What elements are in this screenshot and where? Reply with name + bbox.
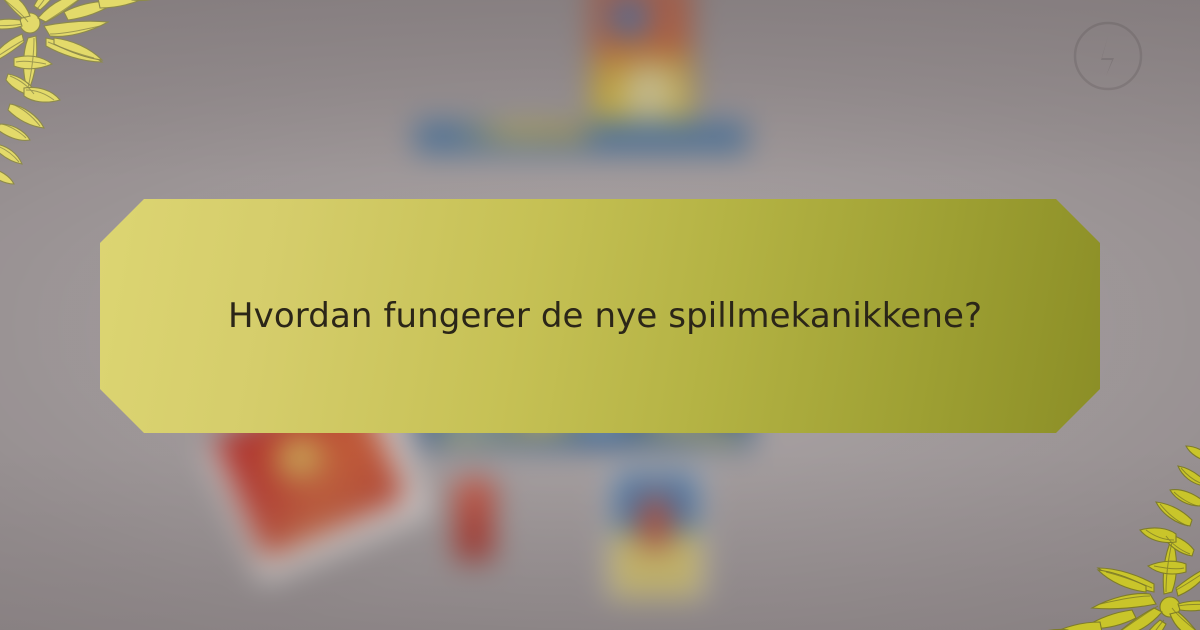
page-title: Hvordan fungerer de nye spillmekanikkene… — [228, 295, 982, 338]
page-root: Hvordan fungerer de nye spillmekanikkene… — [0, 0, 1200, 630]
circular-logo-watermark-icon — [1072, 20, 1144, 92]
title-banner: Hvordan fungerer de nye spillmekanikkene… — [100, 199, 1100, 433]
